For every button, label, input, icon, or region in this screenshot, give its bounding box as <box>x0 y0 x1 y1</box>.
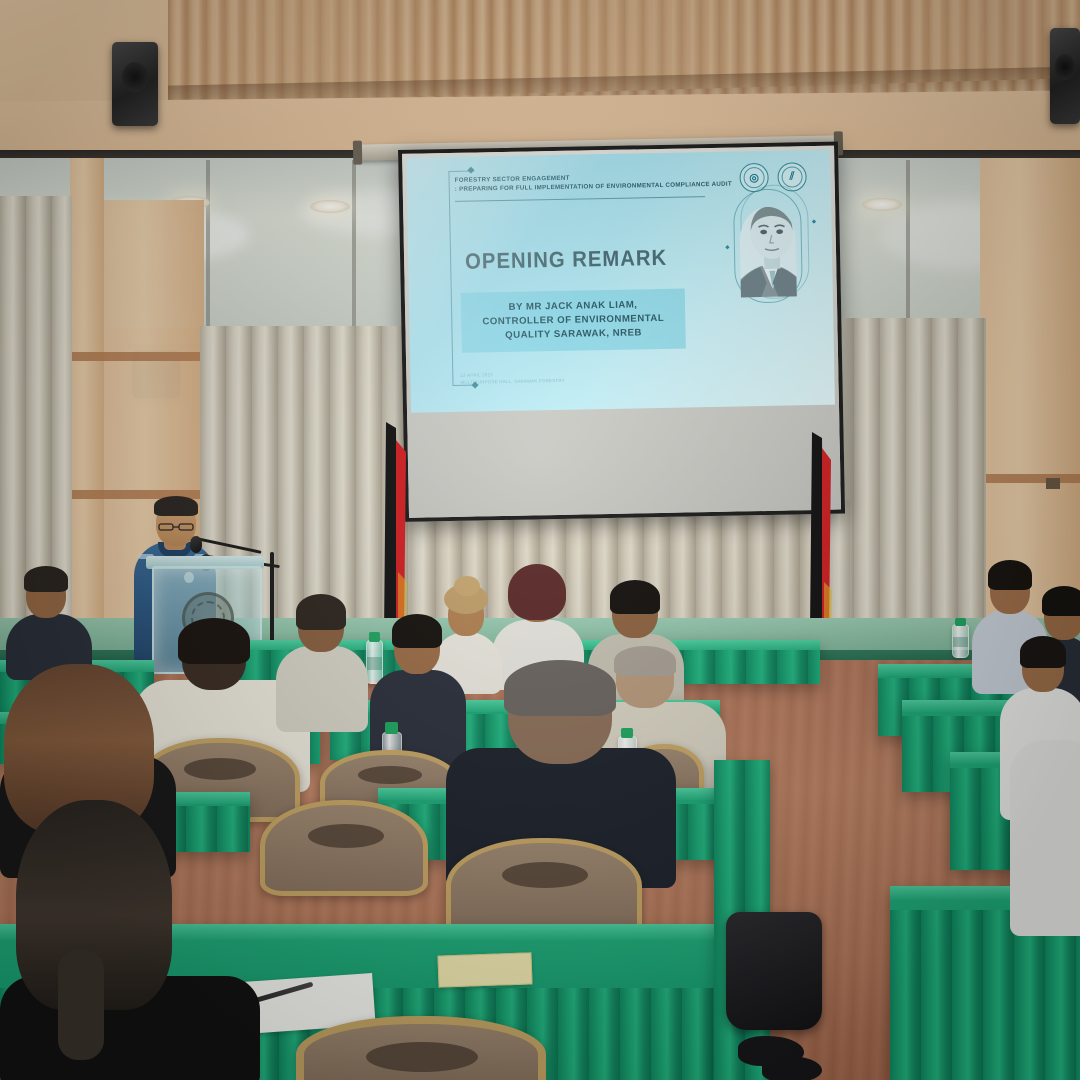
slide-corner-bracket <box>448 171 453 386</box>
flag-left <box>382 422 408 638</box>
wall-socket-icon <box>1046 478 1060 489</box>
projected-slide: FORESTRY SECTOR ENGAGEMENT : PREPARING F… <box>406 150 835 413</box>
water-bottle <box>952 624 969 658</box>
backpack <box>726 912 822 1030</box>
chair-foreground <box>296 1016 546 1080</box>
conference-hall-photo: FORESTRY SECTOR ENGAGEMENT : PREPARING F… <box>0 0 1080 1080</box>
flag-right <box>806 432 832 632</box>
slide-subtitle-band: BY MR JACK ANAK LIAM, CONTROLLER OF ENVI… <box>461 289 686 353</box>
attendee <box>1010 700 1080 930</box>
slide-header: FORESTRY SECTOR ENGAGEMENT : PREPARING F… <box>455 171 755 193</box>
yellow-notepad <box>437 952 532 987</box>
downlight <box>862 198 902 211</box>
microphone-head-icon <box>190 536 202 553</box>
slide-header-rule <box>455 196 705 202</box>
wall-speaker-icon <box>112 42 158 126</box>
attendee <box>276 594 368 724</box>
attendee-hair-bun <box>454 576 480 596</box>
transom-mullion <box>352 160 356 328</box>
speaker-portrait-illustration <box>731 184 815 304</box>
slide-footer: 13 APRIL 2023 MULTIPURPOSE HALL, SARAWAK… <box>460 368 640 385</box>
transom-mullion <box>906 160 910 328</box>
slide-corner-diamond <box>467 167 474 174</box>
projection-screen: FORESTRY SECTOR ENGAGEMENT : PREPARING F… <box>398 142 845 522</box>
slide-title: OPENING REMARK <box>456 245 677 275</box>
presenter-glasses-icon <box>158 518 194 526</box>
shoe <box>762 1056 822 1080</box>
transom-mullion <box>206 160 210 328</box>
column-trim <box>980 474 1080 483</box>
attendee-ponytail <box>58 950 104 1060</box>
wall-speaker-icon <box>1050 28 1080 124</box>
presenter-hair <box>154 496 198 516</box>
wall-column <box>70 158 104 628</box>
downlight <box>310 200 350 213</box>
chair <box>260 800 428 896</box>
chair <box>446 838 642 938</box>
curtain-right <box>828 318 986 636</box>
attendee-foreground <box>0 800 260 1080</box>
column-trim <box>70 352 206 361</box>
attendee <box>6 566 92 670</box>
